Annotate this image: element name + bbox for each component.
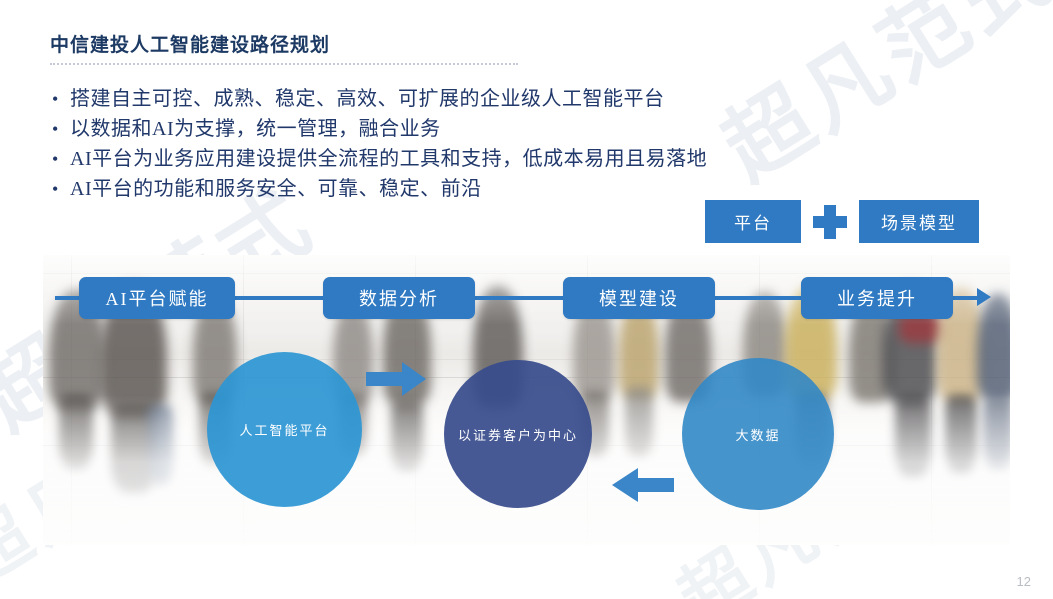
bubble-ai-platform: 人工智能平台: [207, 352, 362, 507]
pipeline-arrow-icon: [977, 288, 991, 306]
list-item: • 以数据和AI为支撑，统一管理，融合业务: [52, 114, 952, 144]
badge-scene-model: 场景模型: [859, 200, 979, 243]
bubble-customer-center: 以证券客户为中心: [444, 360, 592, 508]
arrow-left-icon: [612, 468, 674, 502]
bullet-dot-icon: •: [52, 114, 70, 144]
plus-icon: [813, 205, 847, 239]
bullet-dot-icon: •: [52, 144, 70, 174]
list-item-label: 搭建自主可控、成熟、稳定、高效、可扩展的企业级人工智能平台: [70, 84, 952, 114]
bullet-dot-icon: •: [52, 84, 70, 114]
title-divider: [50, 63, 518, 65]
page-number: 12: [1017, 574, 1031, 589]
title-block: 中信建投人工智能建设路径规划: [50, 34, 520, 65]
pipeline-step-ai-platform[interactable]: AI平台赋能: [79, 277, 235, 319]
pipeline-step-model-building[interactable]: 模型建设: [563, 277, 715, 319]
page-title: 中信建投人工智能建设路径规划: [50, 34, 520, 58]
list-item: • AI平台为业务应用建设提供全流程的工具和支持，低成本易用且易落地: [52, 144, 952, 174]
arrow-right-icon: [366, 362, 426, 396]
bullet-dot-icon: •: [52, 174, 70, 204]
bubble-big-data: 大数据: [682, 358, 834, 510]
list-item: • 搭建自主可控、成熟、稳定、高效、可扩展的企业级人工智能平台: [52, 84, 952, 114]
bullet-list: • 搭建自主可控、成熟、稳定、高效、可扩展的企业级人工智能平台 • 以数据和AI…: [52, 84, 952, 204]
list-item-label: 以数据和AI为支撑，统一管理，融合业务: [70, 114, 952, 144]
badge-platform: 平台: [705, 200, 801, 243]
platform-plus-scene-badge: 平台 场景模型: [705, 200, 979, 243]
process-pipeline: AI平台赋能 数据分析 模型建设 业务提升: [43, 277, 1010, 319]
list-item-label: AI平台为业务应用建设提供全流程的工具和支持，低成本易用且易落地: [70, 144, 952, 174]
slide-canvas: 超凡范式 超凡范式 超凡范式 超凡范式 中信建投人工智能建设路径规划 • 搭建自…: [0, 0, 1053, 599]
pipeline-step-business-growth[interactable]: 业务提升: [801, 277, 953, 319]
pipeline-step-data-analysis[interactable]: 数据分析: [323, 277, 475, 319]
